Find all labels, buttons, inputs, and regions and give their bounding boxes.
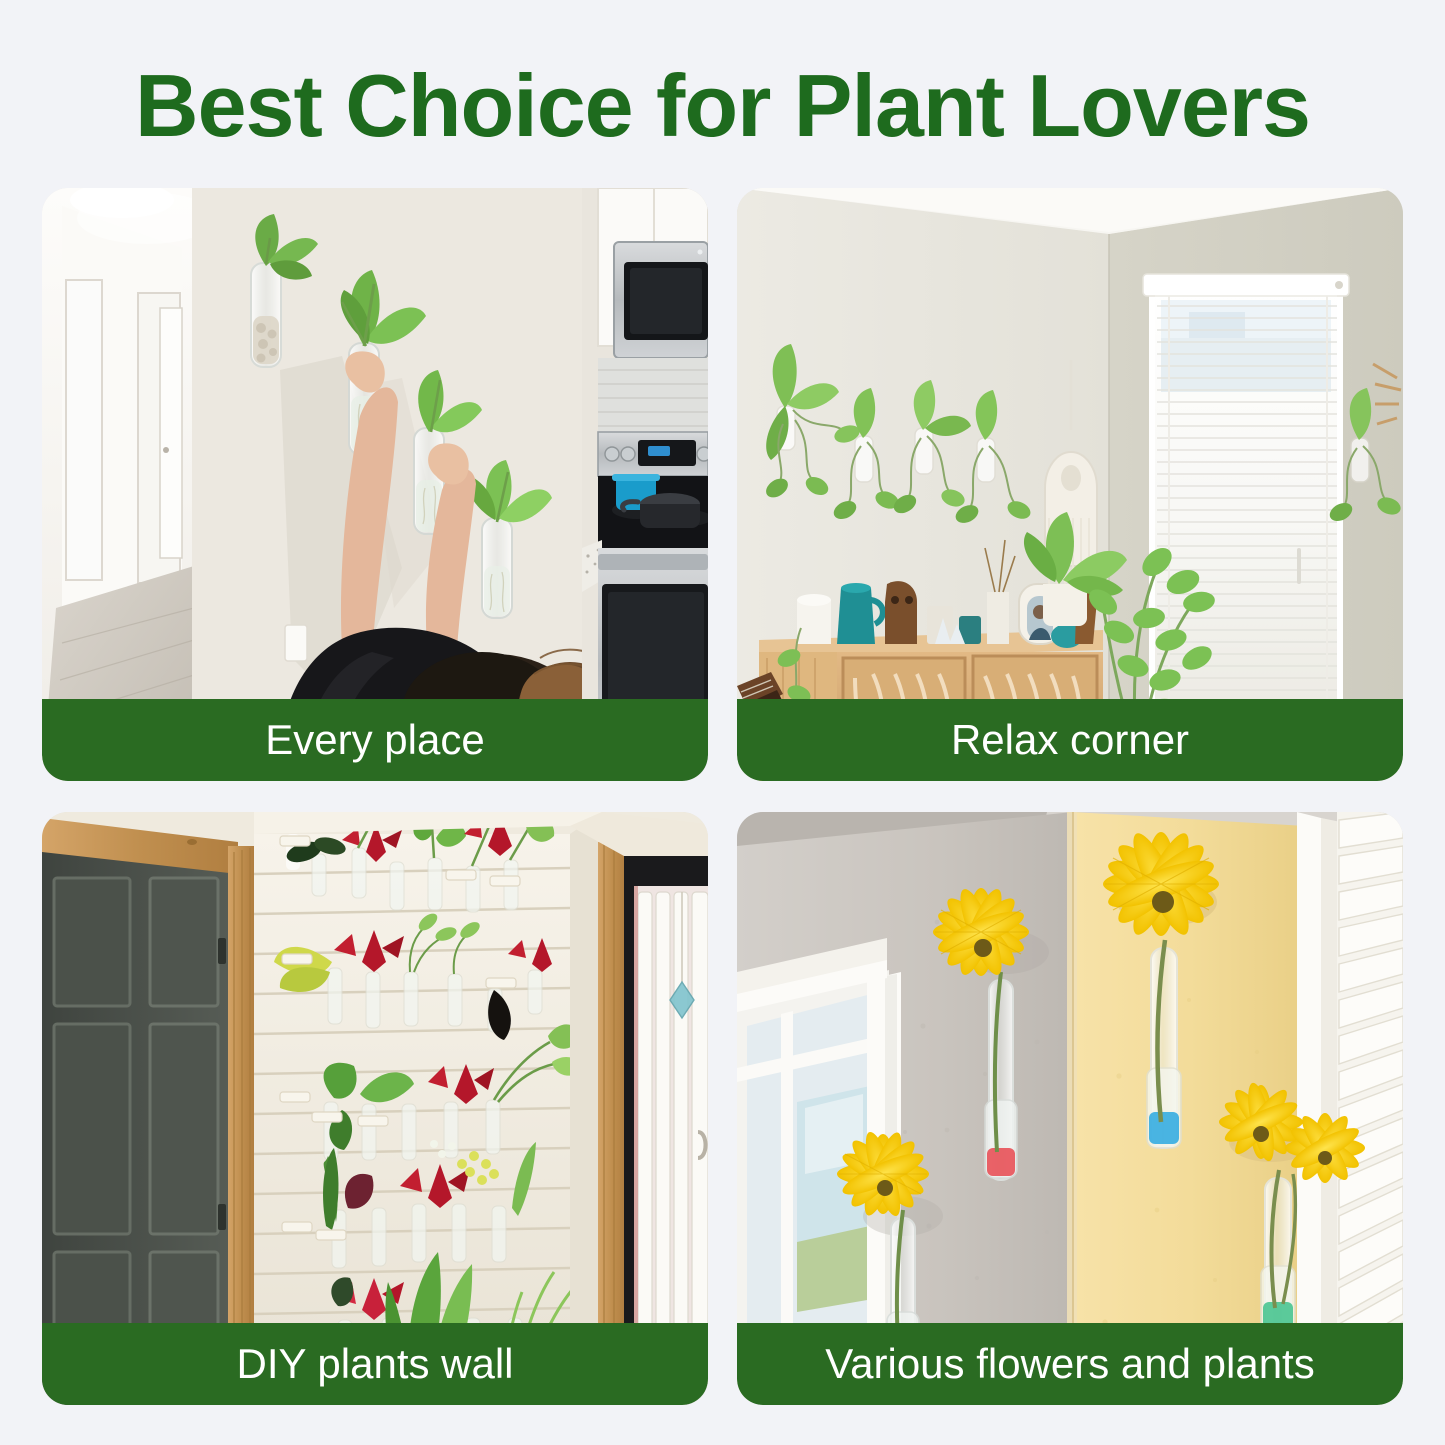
window-with-blinds: [1143, 274, 1349, 716]
gray-panel-door: [42, 818, 254, 1405]
image-gallery-grid: Every place: [0, 0, 1445, 1445]
scene-illustration: [737, 812, 1403, 1405]
photo-hallway-installing-wall-planters: [42, 188, 708, 781]
scene-illustration: [42, 812, 708, 1405]
gallery-card-relax-corner[interactable]: Relax corner: [737, 188, 1403, 781]
card-caption-various-flowers: Various flowers and plants: [737, 1323, 1403, 1405]
glass-door-right: [570, 812, 708, 1405]
photo-living-room-corner-rattan-cabinet: [737, 188, 1403, 781]
card-caption-every-place: Every place: [42, 699, 708, 781]
scene-illustration: [737, 188, 1403, 781]
scene-illustration: [42, 188, 708, 781]
shiplap-plant-wall: [254, 816, 580, 1405]
card-caption-diy-plants-wall: DIY plants wall: [42, 1323, 708, 1405]
photo-shiplap-plant-wall-with-door: [42, 812, 708, 1405]
shutter-blinds-right: [1297, 812, 1403, 1405]
card-caption-relax-corner: Relax corner: [737, 699, 1403, 781]
gallery-card-every-place[interactable]: Every place: [42, 188, 708, 781]
infographic-page: Best Choice for Plant Lovers: [0, 0, 1445, 1445]
kitchen-area: [582, 188, 708, 781]
gallery-card-various-flowers[interactable]: Various flowers and plants: [737, 812, 1403, 1405]
gallery-card-diy-plants-wall[interactable]: DIY plants wall: [42, 812, 708, 1405]
photo-yellow-gerbera-wall-vases: [737, 812, 1403, 1405]
